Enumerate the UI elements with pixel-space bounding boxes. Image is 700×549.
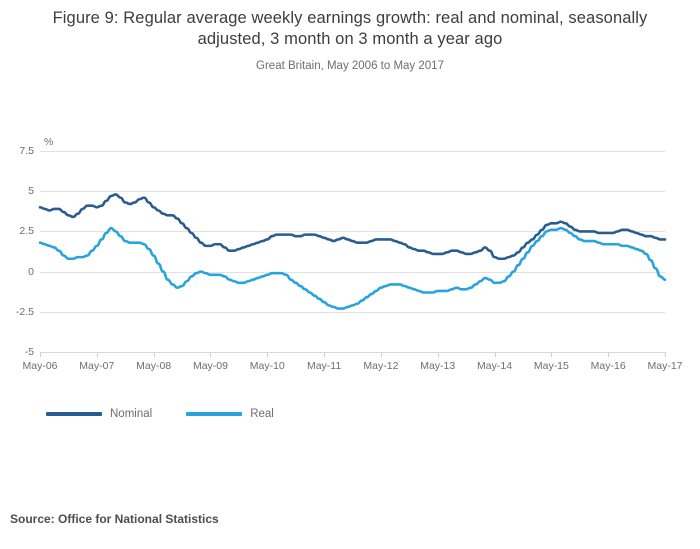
legend: Nominal Real [46, 408, 274, 420]
x-axis-tick-mark [438, 352, 439, 357]
y-axis-tick-label: -5 [0, 346, 34, 358]
x-axis-tick-mark [608, 352, 609, 357]
x-axis-tick-label: May-15 [534, 360, 569, 372]
x-axis-tick-mark [381, 352, 382, 357]
y-axis-tick-label: 5 [0, 185, 34, 197]
x-axis-tick-mark [551, 352, 552, 357]
y-axis-tick-label: -2.5 [0, 306, 34, 318]
legend-swatch-nominal [46, 412, 102, 416]
legend-item-nominal[interactable]: Nominal [46, 408, 152, 420]
x-axis-tick-mark [97, 352, 98, 357]
x-axis-tick-label: May-13 [420, 360, 455, 372]
source-note: Source: Office for National Statistics [10, 512, 219, 526]
x-axis-tick-label: May-17 [647, 360, 682, 372]
x-axis-tick-label: May-09 [193, 360, 228, 372]
x-axis-tick-label: May-11 [307, 360, 341, 372]
x-axis-tick-label: May-08 [136, 360, 171, 372]
x-axis-tick-mark [40, 352, 41, 357]
x-axis-tick-label: May-16 [591, 360, 626, 372]
x-axis-tick-mark [210, 352, 211, 357]
y-axis-tick-label: 7.5 [0, 145, 34, 157]
x-axis-tick-mark [267, 352, 268, 357]
y-axis-tick-label: 2.5 [0, 225, 34, 237]
y-axis-tick-label: 0 [0, 266, 34, 278]
x-axis-tick-label: May-07 [79, 360, 114, 372]
plot-area [40, 151, 665, 352]
page-title: Figure 9: Regular average weekly earning… [50, 8, 650, 50]
legend-label-nominal: Nominal [110, 408, 152, 420]
x-axis-tick-label: May-10 [250, 360, 285, 372]
series-lines [40, 151, 665, 352]
x-axis-tick-mark [324, 352, 325, 357]
line-nominal [40, 194, 665, 258]
legend-item-real[interactable]: Real [186, 408, 274, 420]
x-axis-line [40, 352, 665, 353]
plot-wrapper: -5-2.502.557.5 May-06May-07May-08May-09M… [0, 132, 700, 372]
legend-label-real: Real [250, 408, 274, 420]
legend-swatch-real [186, 412, 242, 416]
chart-subtitle: Great Britain, May 2006 to May 2017 [0, 60, 700, 72]
x-axis-tick-label: May-12 [363, 360, 398, 372]
x-axis-tick-mark [154, 352, 155, 357]
x-axis-tick-mark [665, 352, 666, 357]
title-block: Figure 9: Regular average weekly earning… [0, 0, 700, 72]
x-axis-tick-label: May-14 [477, 360, 512, 372]
figure-container: Figure 9: Regular average weekly earning… [0, 0, 700, 549]
x-axis-tick-label: May-06 [22, 360, 57, 372]
x-axis-tick-mark [495, 352, 496, 357]
